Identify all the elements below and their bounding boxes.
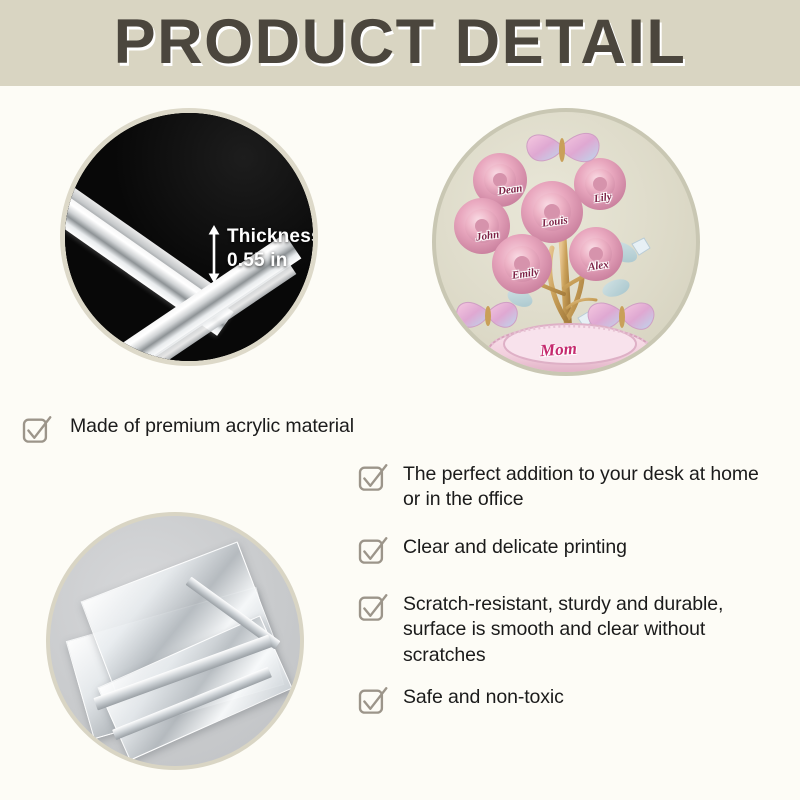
feature-item: Scratch-resistant, sturdy and durable, s… — [358, 592, 778, 668]
product-detail-page: PRODUCT DETAIL Thickness 0.55 in — [0, 0, 800, 800]
roses — [454, 153, 626, 294]
base-name-label: Mom — [539, 339, 577, 362]
feature-label: The perfect addition to your desk at hom… — [403, 462, 778, 513]
feature-label: Clear and delicate printing — [403, 535, 627, 560]
checkbox-checked-icon — [358, 463, 389, 494]
feature-label: Made of premium acrylic material — [67, 414, 357, 439]
checkbox-checked-icon — [358, 686, 389, 717]
checkbox-checked-icon — [358, 536, 389, 567]
thickness-label-line2: 0.55 in — [227, 249, 318, 273]
feature-label: Scratch-resistant, sturdy and durable, s… — [403, 592, 778, 668]
checkbox-checked-icon — [22, 415, 53, 446]
double-headed-vertical-arrow-icon — [207, 225, 221, 283]
thickness-photo-circle: Thickness 0.55 in — [60, 108, 318, 366]
rose-ornament-illustration — [436, 112, 700, 376]
feature-label: Safe and non-toxic — [403, 685, 564, 710]
acrylic-blocks-photo-circle — [46, 512, 304, 770]
feature-item: Made of premium acrylic material — [22, 414, 372, 446]
product-photo-circle: Mom Dean Lily John Louis Emily Alex — [432, 108, 700, 376]
feature-item: Safe and non-toxic — [358, 685, 778, 717]
feature-item: Clear and delicate printing — [358, 535, 778, 567]
thickness-label: Thickness 0.55 in — [227, 225, 318, 274]
feature-item: The perfect addition to your desk at hom… — [358, 462, 778, 513]
thickness-label-line1: Thickness — [227, 225, 318, 249]
page-title: PRODUCT DETAIL — [0, 6, 800, 78]
checkbox-checked-icon — [358, 593, 389, 624]
header-banner: PRODUCT DETAIL — [0, 0, 800, 86]
